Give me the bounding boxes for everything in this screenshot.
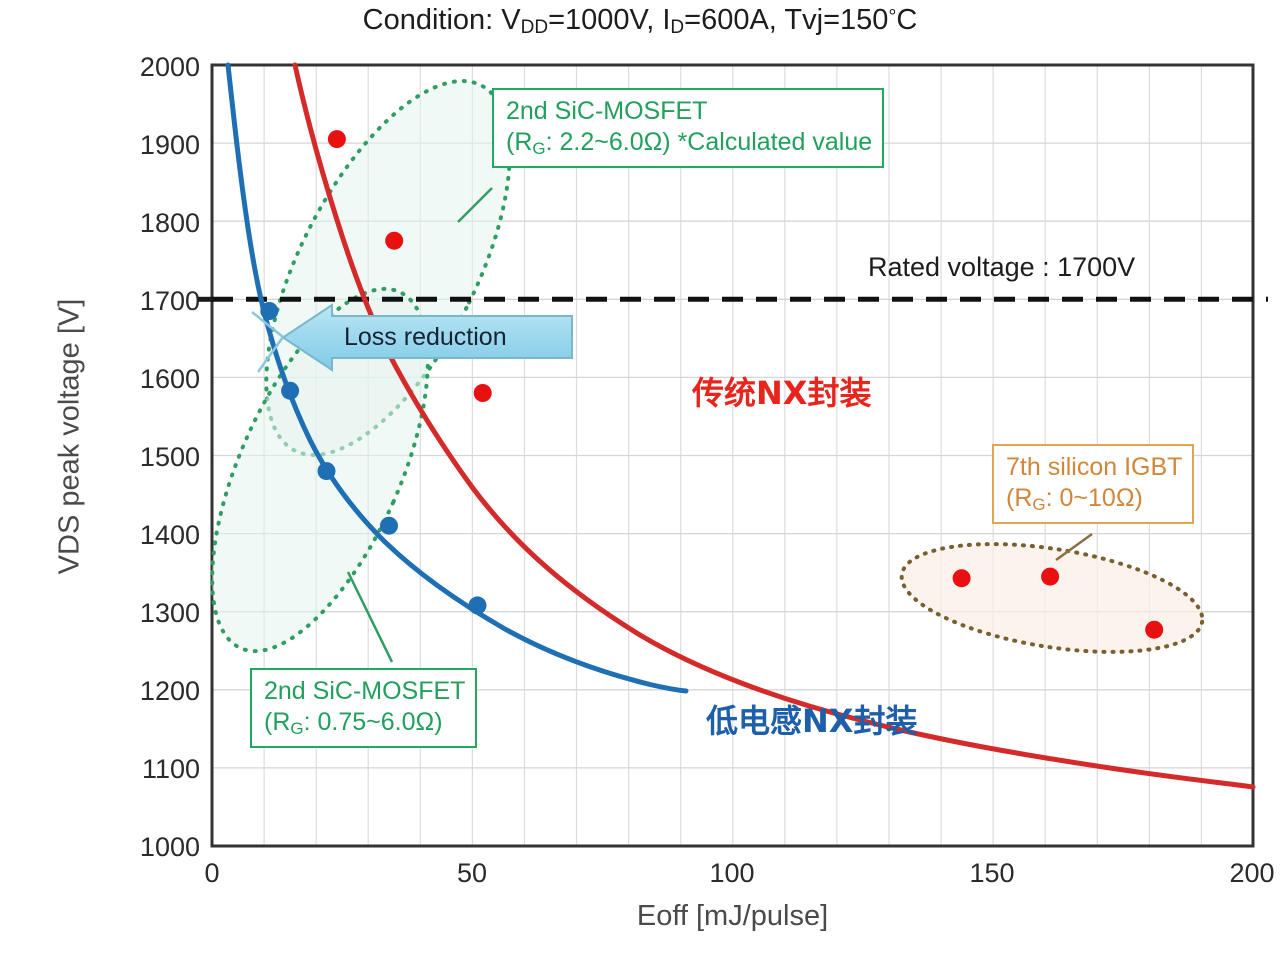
data-point — [380, 517, 398, 535]
data-point — [1041, 568, 1059, 586]
data-point — [474, 384, 492, 402]
series-label-low-inductance-nx: 低电感NX封装 — [706, 696, 917, 742]
annotation-line-2: (RG: 0~10Ω) — [1006, 483, 1182, 516]
data-point — [385, 232, 403, 250]
rated-voltage-label: Rated voltage : 1700V — [868, 252, 1135, 283]
annotation-line-2: (RG: 0.75~6.0Ω) — [264, 707, 465, 740]
data-point — [328, 130, 346, 148]
data-point — [260, 302, 278, 320]
data-point — [1145, 621, 1163, 639]
data-point — [953, 569, 971, 587]
annotation-line-1: 7th silicon IGBT — [1006, 452, 1182, 483]
annotation-orange-igbt[interactable]: 7th silicon IGBT (RG: 0~10Ω) — [992, 444, 1194, 524]
data-point — [281, 382, 299, 400]
loss-reduction-label: Loss reduction — [344, 323, 507, 352]
annotation-line-1: 2nd SiC-MOSFET — [264, 676, 465, 707]
annotation-green-bottom[interactable]: 2nd SiC-MOSFET (RG: 0.75~6.0Ω) — [250, 668, 477, 748]
annotation-green-top[interactable]: 2nd SiC-MOSFET (RG: 2.2~6.0Ω) *Calculate… — [492, 88, 884, 168]
chart-root: Condition: VDD=1000V, ID=600A, Tvj=150°C… — [0, 0, 1280, 956]
annotation-line-1: 2nd SiC-MOSFET — [506, 96, 872, 127]
data-point — [469, 596, 487, 614]
series-label-conventional-nx: 传统NX封装 — [692, 368, 871, 414]
data-point — [318, 462, 336, 480]
annotation-line-2: (RG: 2.2~6.0Ω) *Calculated value — [506, 127, 872, 160]
